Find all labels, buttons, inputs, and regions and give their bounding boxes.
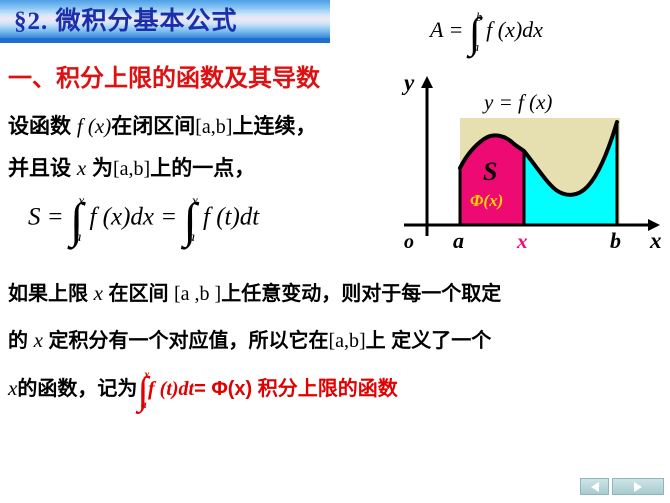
origin-label: o	[404, 231, 414, 253]
display-formula-body-1: f (x)dx	[89, 204, 154, 231]
line4-interval: [a ,b ]	[174, 283, 221, 305]
integral-upper-limit: x	[192, 194, 198, 210]
next-slide-button[interactable]	[612, 478, 664, 495]
display-formula: S = ∫ x a f (x)dx = ∫ x a f (t)dt	[28, 198, 259, 240]
integral-lower-limit: a	[141, 399, 147, 411]
integral-upper-limit: b	[476, 10, 482, 25]
paragraph-line-6: x的函数，记为∫xaf (t)dt= Φ(x) 积分上限的函数	[8, 372, 398, 407]
line5-mid: 定积分有一个对应值，所以它在	[43, 330, 329, 352]
slide-root: §2. 微积分基本公式 一、积分上限的函数及其导数 A = ∫ b a f (x…	[0, 0, 670, 503]
line6-pre: x	[8, 376, 17, 400]
line4-post: 上任意变动，则对于每一个取定	[221, 283, 501, 305]
integral-glyph-red: ∫xa	[137, 373, 148, 407]
triangle-right-icon	[634, 482, 642, 492]
line2-post: 上的一点，	[150, 157, 255, 180]
area-formula: A = ∫ b a f (x)dx	[430, 14, 543, 50]
paragraph-line-5: 的 x 定积分有一个对应值，所以它在[a,b]上 定义了一个	[8, 324, 491, 353]
y-axis-label: y	[401, 70, 415, 95]
line5-post: 上 定义了一个	[366, 330, 492, 352]
red-formula-body: f (t)dt	[148, 378, 194, 400]
integral-upper-limit: x	[144, 369, 150, 381]
line2-pre: 并且设	[8, 157, 77, 180]
paragraph-line-2: 并且设 x 为[a,b]上的一点，	[8, 152, 255, 182]
y-axis-arrow	[421, 76, 433, 88]
integral-upper-limit: x	[78, 194, 84, 210]
region-label-s: S	[483, 157, 497, 186]
display-formula-equals: =	[160, 204, 177, 231]
area-formula-lhs: A =	[430, 17, 463, 42]
x-axis-label: x	[649, 228, 662, 253]
slide-navigation	[580, 478, 664, 495]
line4-math: x	[94, 281, 103, 305]
line2-mid: 为	[86, 157, 113, 180]
line2-interval: [a,b]	[113, 158, 150, 180]
line5-math: x	[34, 328, 43, 352]
triangle-left-icon	[591, 482, 599, 492]
paragraph-line-4: 如果上限 x 在区间 [a ,b ]上任意变动，则对于每一个取定	[8, 277, 501, 306]
slide-title-bar: §2. 微积分基本公式	[0, 0, 330, 38]
tick-label-b: b	[610, 228, 621, 253]
display-formula-lhs: S =	[28, 204, 64, 231]
line5-pre: 的	[8, 330, 34, 352]
curve-label: y = f (x)	[482, 90, 552, 114]
integral-area-graph: y x o y = f (x) a x b S Φ(x)	[396, 64, 670, 256]
tick-label-a: a	[453, 228, 464, 253]
line1-interval: [a,b]	[195, 116, 232, 138]
integral-glyph-2: ∫ x a	[183, 198, 196, 240]
area-formula-integrand: f (x)dx	[486, 17, 543, 42]
section-heading: 一、积分上限的函数及其导数	[8, 58, 320, 93]
integral-lower-limit: a	[74, 230, 81, 246]
line4-pre: 如果上限	[8, 283, 94, 305]
line1-math: f (x)	[77, 114, 111, 138]
line1-post: 上连续，	[232, 115, 316, 138]
title-underline	[0, 38, 330, 43]
integral-glyph-1: ∫ x a	[70, 198, 83, 240]
display-formula-body-2: f (t)dt	[203, 204, 259, 231]
page-title: §2. 微积分基本公式	[0, 1, 238, 37]
line6-mid: 的函数，记为	[17, 378, 137, 400]
integral-glyph: ∫ b a	[469, 14, 481, 50]
integral-lower-limit: a	[188, 230, 195, 246]
line1-pre: 设函数	[8, 115, 77, 138]
region-label-phi: Φ(x)	[470, 191, 503, 210]
line5-interval: [a,b]	[328, 330, 365, 352]
prev-slide-button[interactable]	[580, 478, 609, 495]
paragraph-line-1: 设函数 f (x)在闭区间[a,b]上连续，	[8, 110, 316, 140]
tick-label-x: x	[516, 229, 528, 253]
line4-mid: 在区间	[103, 283, 174, 305]
line1-mid: 在闭区间	[111, 115, 195, 138]
red-formula: ∫xaf (t)dt= Φ(x) 积分上限的函数	[137, 378, 397, 400]
line2-math: x	[77, 156, 86, 180]
integral-lower-limit: a	[473, 40, 479, 55]
red-formula-tail: = Φ(x) 积分上限的函数	[194, 378, 398, 400]
